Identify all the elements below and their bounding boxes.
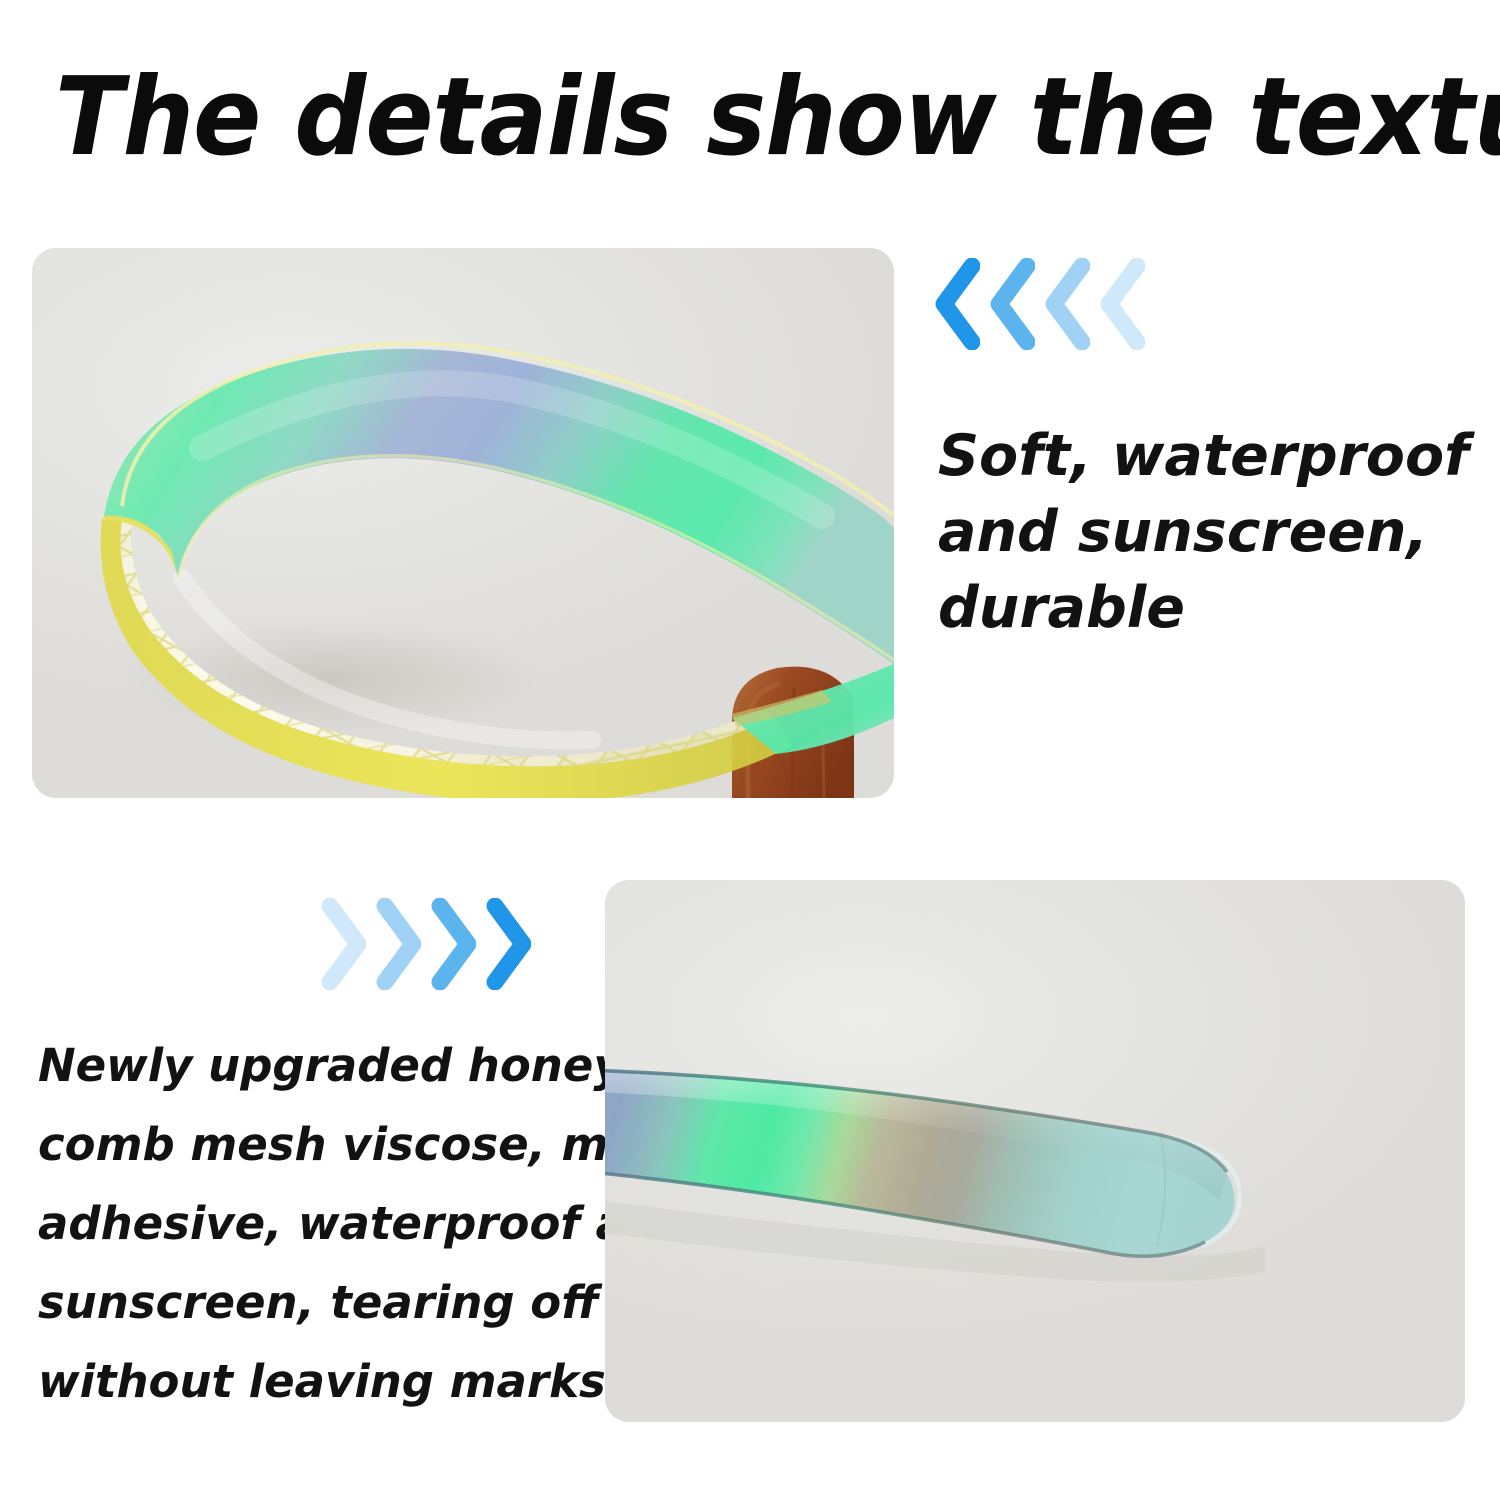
chevron-right-icon-1 [318,898,366,990]
chevrons-right [318,898,531,990]
chevron-left-icon-4 [1097,258,1145,350]
tape-strip-illustration [605,880,1465,1422]
chevron-right-icon-2 [373,898,421,990]
chevron-right-icon-4 [483,898,531,990]
caption-line: sunscreen, tearing off [38,1263,594,1342]
chevron-left-icon-3 [1042,258,1090,350]
page-title: The details show the texture [55,58,1357,178]
holographic-tape-loop-photo [32,248,894,798]
chevrons-left [932,258,1145,350]
chevron-left-icon-2 [987,258,1035,350]
chevron-left-icon-1 [932,258,980,350]
feature-text-left: Newly upgraded honey- comb mesh viscose,… [38,1026,594,1421]
holographic-tape-strip-photo [605,880,1465,1422]
tape-loop-illustration [32,248,894,798]
caption-line: and sunscreen, [938,494,1448,570]
caption-line: comb mesh viscose, more [38,1105,594,1184]
caption-line: durable [938,570,1448,646]
caption-line: without leaving marks [38,1342,594,1421]
caption-line: Newly upgraded honey- [38,1026,594,1105]
caption-line: adhesive, waterproof and [38,1184,594,1263]
chevron-right-icon-3 [428,898,476,990]
feature-text-right: Soft, waterproof and sunscreen, durable [938,418,1448,646]
caption-line: Soft, waterproof [938,418,1448,494]
